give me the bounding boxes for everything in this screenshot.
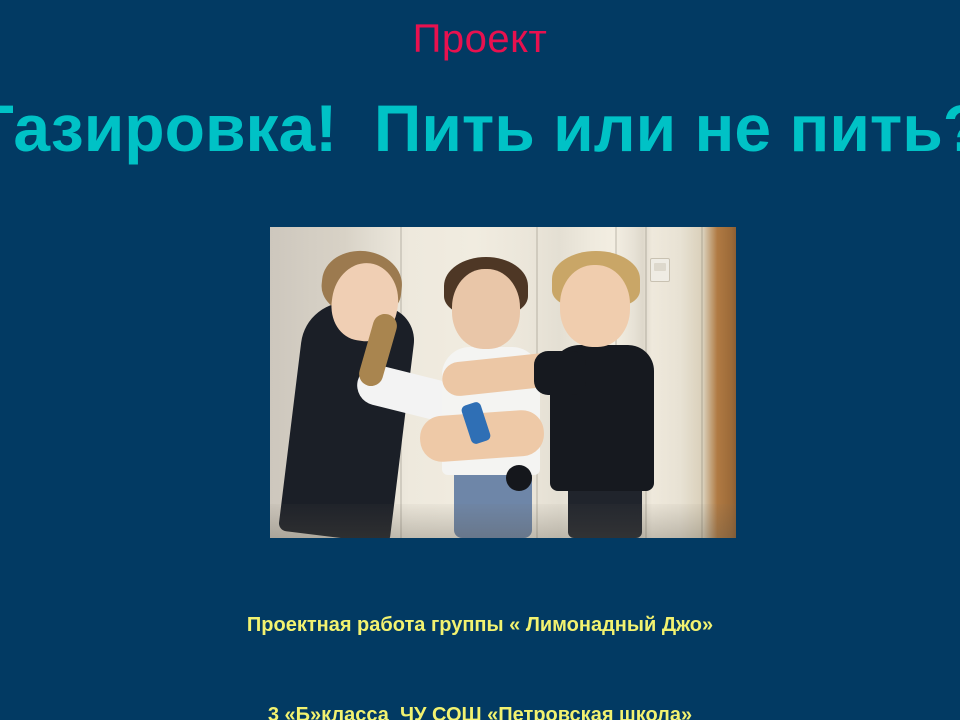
photo-child-boy-right bbox=[538, 227, 678, 538]
right-boy-face bbox=[560, 265, 630, 347]
centre-boy-face bbox=[452, 269, 520, 349]
photo-background-wall bbox=[270, 227, 736, 538]
credits-line-group: Проектная работа группы « Лимонадный Джо… bbox=[0, 610, 960, 640]
slide-photo bbox=[270, 227, 736, 538]
slide-kicker-title: Проект bbox=[0, 16, 960, 62]
slide-main-title-container: Газировка! Пить или не пить? bbox=[0, 86, 960, 178]
slide-credits: Проектная работа группы « Лимонадный Джо… bbox=[0, 550, 960, 720]
wristwatch-icon bbox=[506, 465, 532, 491]
credits-line-class: 3 «Б»класса ЧУ СОШ «Петровская школа» bbox=[0, 700, 960, 720]
slide-main-title: Газировка! Пить или не пить? bbox=[0, 86, 960, 170]
right-boy-sleeve bbox=[534, 351, 586, 395]
presentation-slide: Проект Газировка! Пить или не пить? bbox=[0, 0, 960, 720]
wall-panel-seam bbox=[701, 227, 703, 538]
photo-floor-shadow bbox=[270, 504, 736, 538]
